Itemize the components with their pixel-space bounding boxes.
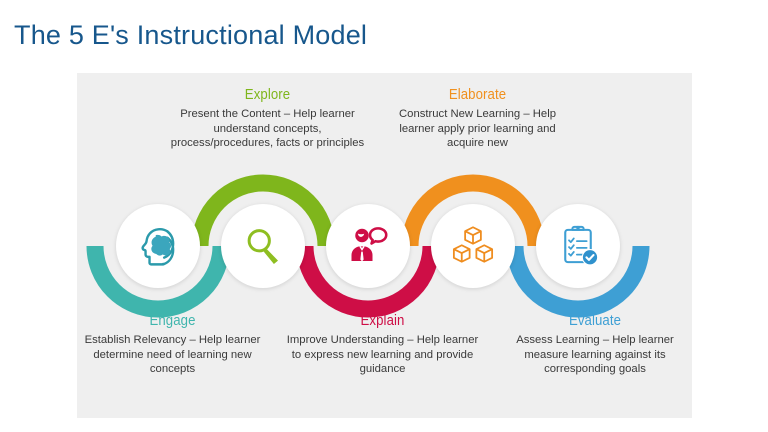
head-brain-icon	[134, 222, 182, 270]
stage-circle-elaborate[interactable]	[431, 204, 515, 288]
stage-circle-explore[interactable]	[221, 204, 305, 288]
five-e-process-diagram: Explore Present the Content – Help learn…	[77, 73, 692, 418]
person-speech-bubble-icon	[344, 222, 392, 270]
stage-circle-evaluate[interactable]	[536, 204, 620, 288]
stage-name-engage: Engage	[87, 311, 259, 330]
stage-description-engage: Establish Relevancy – Help learner deter…	[75, 333, 270, 377]
stage-circle-engage[interactable]	[116, 204, 200, 288]
stage-description-explain: Improve Understanding – Help learner to …	[285, 333, 480, 377]
stage-label-engage: Engage Establish Relevancy – Help learne…	[75, 311, 270, 377]
stage-description-evaluate: Assess Learning – Help learner measure l…	[495, 333, 695, 377]
stage-label-elaborate: Elaborate Construct New Learning – Help …	[380, 85, 575, 151]
stage-name-elaborate: Elaborate	[392, 85, 564, 104]
stage-label-evaluate: Evaluate Assess Learning – Help learner …	[495, 311, 695, 377]
page-title: The 5 E's Instructional Model	[14, 19, 367, 52]
stage-label-explore: Explore Present the Content – Help learn…	[170, 85, 365, 151]
stage-name-explore: Explore	[182, 85, 354, 104]
slide-canvas: The 5 E's Instructional Model	[0, 0, 768, 432]
stage-description-explore: Present the Content – Help learner under…	[170, 107, 365, 151]
stage-label-explain: Explain Improve Understanding – Help lea…	[285, 311, 480, 377]
stage-name-explain: Explain	[297, 311, 469, 330]
stage-description-elaborate: Construct New Learning – Help learner ap…	[380, 107, 575, 151]
magnifying-glass-icon	[239, 222, 287, 270]
stage-circle-explain[interactable]	[326, 204, 410, 288]
stacked-cubes-icon	[449, 222, 497, 270]
clipboard-check-icon	[554, 222, 602, 270]
stage-name-evaluate: Evaluate	[507, 311, 683, 330]
